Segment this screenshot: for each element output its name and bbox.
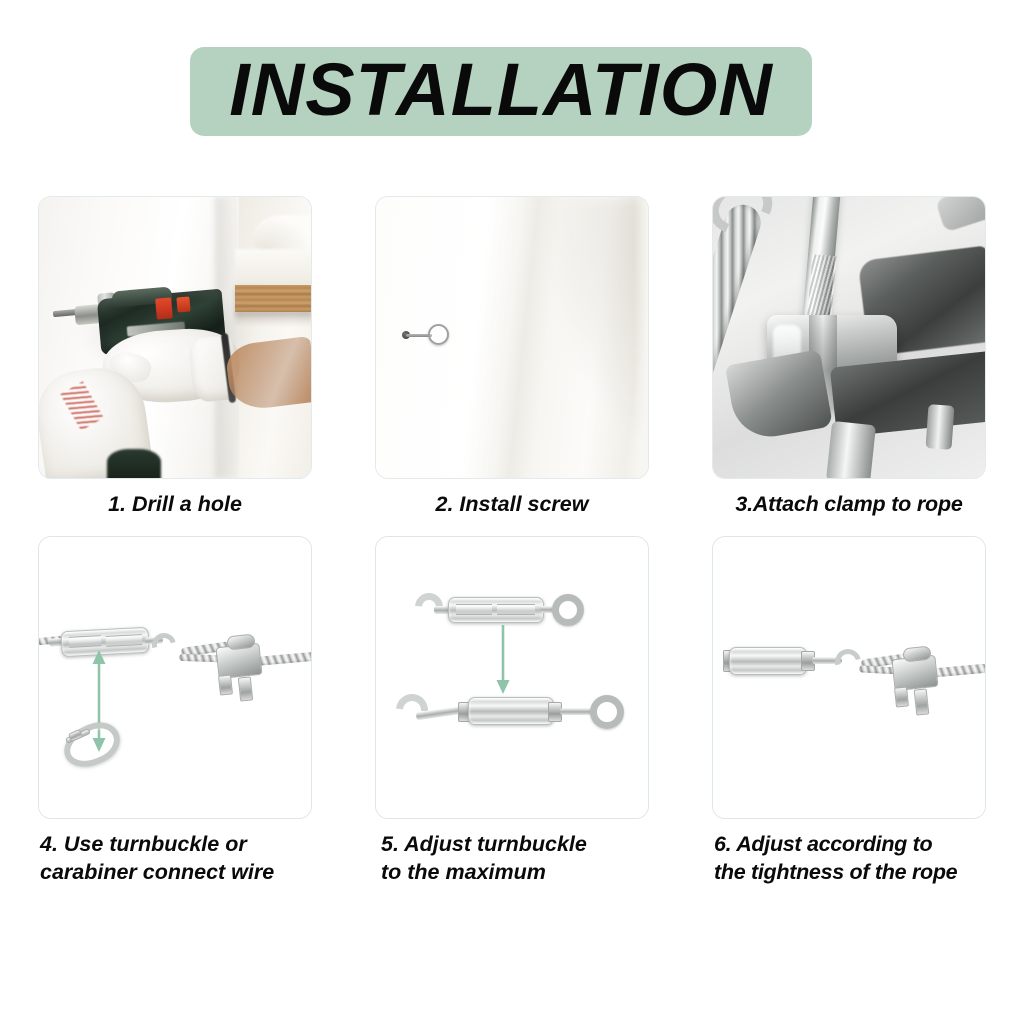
illustration-background	[39, 537, 311, 818]
step-4: 4. Use turnbuckle or carabiner connect w…	[38, 536, 312, 887]
step-2: 2. Install screw	[375, 196, 649, 518]
step-3-caption: 3.Attach clamp to rope	[712, 490, 986, 518]
step-6-caption: 6. Adjust according to the tightness of …	[712, 830, 986, 887]
turnbuckle-slot-1	[69, 635, 102, 648]
turnbuckle-frame	[729, 647, 807, 675]
step-5-caption: 5. Adjust turnbuckle to the maximum	[375, 830, 649, 887]
step-4-image	[38, 536, 312, 819]
turnbuckle-slot-closed-1	[456, 604, 492, 615]
down-arrow-icon	[492, 625, 514, 695]
title-banner: INSTALLATION	[190, 47, 812, 136]
rope-clamp-nut-1	[218, 674, 233, 695]
clamp-bottom-shaft	[826, 421, 876, 479]
step-5-image	[375, 536, 649, 819]
step-1: 1. Drill a hole	[38, 196, 312, 518]
turnbuckle-slot-2	[106, 634, 143, 647]
step-4-caption: 4. Use turnbuckle or carabiner connect w…	[38, 830, 312, 887]
step-2-image	[375, 196, 649, 479]
step-3: 3.Attach clamp to rope	[712, 196, 986, 518]
wall-shading	[528, 197, 648, 478]
turnbuckle-eye-extended	[590, 695, 624, 729]
step-3-image	[712, 196, 986, 479]
rope-clamp-nut-1	[894, 686, 909, 707]
step-5: 5. Adjust turnbuckle to the maximum	[375, 536, 649, 887]
step-1-image	[38, 196, 312, 479]
stair-tread	[235, 249, 312, 285]
rope-clamp-nut-2	[238, 676, 253, 701]
turnbuckle-eye-closed	[552, 594, 584, 626]
illustration-background	[713, 537, 985, 818]
turnbuckle-slot-closed-2	[497, 604, 535, 615]
eye-bolt-icon	[428, 324, 449, 345]
page-title: INSTALLATION	[229, 53, 773, 127]
drill-accent-red-1	[155, 297, 173, 319]
step-2-caption: 2. Install screw	[375, 490, 649, 518]
step-1-caption: 1. Drill a hole	[38, 490, 312, 518]
rope-clamp-nut-2	[914, 688, 930, 715]
step-6: 6. Adjust according to the tightness of …	[712, 536, 986, 887]
installation-infographic: INSTALLATION	[0, 0, 1024, 1024]
drill-battery-base	[107, 449, 161, 479]
wall-right-edge	[634, 197, 648, 478]
step-6-image	[712, 536, 986, 819]
clamp-stud	[925, 404, 954, 450]
drill-accent-red-2	[176, 296, 190, 312]
turnbuckle-frame-extended	[468, 697, 554, 725]
